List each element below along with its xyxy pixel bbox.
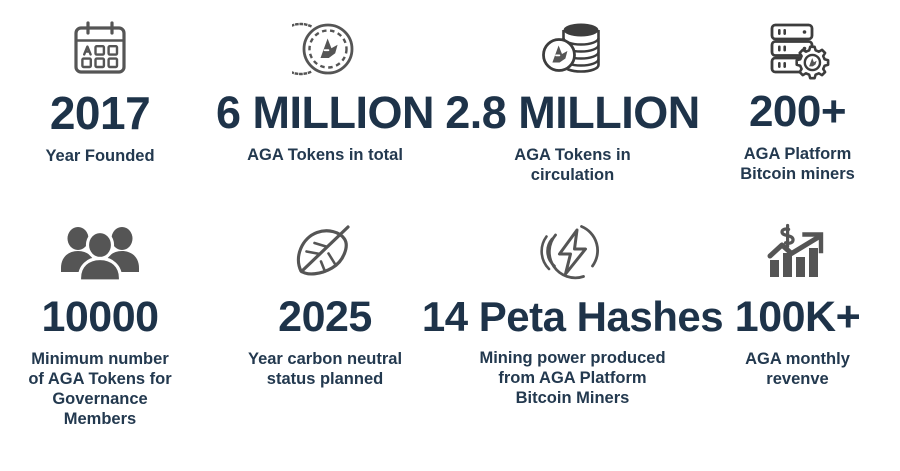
stat-cell-tokens-circulation: 2.8 MILLION AGA Tokens in circulation <box>450 0 695 200</box>
caption-line: Members <box>28 409 171 429</box>
stat-cell-bitcoin-miners: 200+ AGA Platform Bitcoin miners <box>695 0 900 200</box>
coin-icon <box>292 12 358 86</box>
stat-caption: Year Founded <box>45 146 154 166</box>
caption-line: Minimum number <box>28 349 171 369</box>
stat-caption: AGA Tokens in total <box>247 145 403 165</box>
caption-line: AGA monthly <box>745 349 850 369</box>
stat-caption: Minimum number of AGA Tokens for Governa… <box>28 349 171 430</box>
caption-line: Year carbon neutral <box>248 349 402 369</box>
stat-cell-hash-power: 14 Peta Hashes Mining power produced fro… <box>450 200 695 471</box>
stat-caption: Mining power produced from AGA Platform … <box>479 348 665 408</box>
caption-line: status planned <box>248 369 402 389</box>
server-gear-icon <box>764 12 832 86</box>
stat-value: 2025 <box>278 296 372 339</box>
caption-line: Bitcoin miners <box>740 164 855 184</box>
coin-stack-icon <box>539 12 607 86</box>
people-group-icon <box>58 212 142 292</box>
stat-value: 6 MILLION <box>216 90 434 135</box>
growth-chart-dollar-icon <box>764 212 832 292</box>
caption-line: Bitcoin Miners <box>479 388 665 408</box>
leaf-icon <box>290 212 360 292</box>
stats-infographic: 2017 Year Founded 6 MILLION AGA Tokens i… <box>0 0 900 471</box>
stat-value: 10000 <box>41 296 158 339</box>
caption-line: from AGA Platform <box>479 368 665 388</box>
stat-caption: AGA monthly revenve <box>745 349 850 389</box>
caption-line: AGA Platform <box>740 144 855 164</box>
caption-line: Mining power produced <box>479 348 665 368</box>
caption-line: Year Founded <box>45 146 154 166</box>
stat-caption: AGA Tokens in circulation <box>514 145 630 185</box>
stat-caption: Year carbon neutral status planned <box>248 349 402 389</box>
stat-cell-carbon-neutral: 2025 Year carbon neutral status planned <box>200 200 450 471</box>
stat-caption: AGA Platform Bitcoin miners <box>740 144 855 184</box>
stat-cell-year-founded: 2017 Year Founded <box>0 0 200 200</box>
caption-line: circulation <box>514 165 630 185</box>
stat-value: 2.8 MILLION <box>445 90 700 135</box>
stat-value: 14 Peta Hashes <box>422 296 723 338</box>
lightning-circle-icon <box>537 212 609 292</box>
caption-line: of AGA Tokens for <box>28 369 171 389</box>
caption-line: AGA Tokens in total <box>247 145 403 165</box>
stat-value: 200+ <box>749 90 846 134</box>
stat-cell-governance-minimum: 10000 Minimum number of AGA Tokens for G… <box>0 200 200 471</box>
stat-value: 100K+ <box>735 296 860 339</box>
calendar-icon <box>69 12 131 86</box>
caption-line: revenve <box>745 369 850 389</box>
caption-line: Governance <box>28 389 171 409</box>
stats-grid: 2017 Year Founded 6 MILLION AGA Tokens i… <box>0 0 900 471</box>
caption-line: AGA Tokens in <box>514 145 630 165</box>
stat-cell-monthly-revenue: 100K+ AGA monthly revenve <box>695 200 900 471</box>
stat-value: 2017 <box>50 90 150 136</box>
stat-cell-tokens-total: 6 MILLION AGA Tokens in total <box>200 0 450 200</box>
